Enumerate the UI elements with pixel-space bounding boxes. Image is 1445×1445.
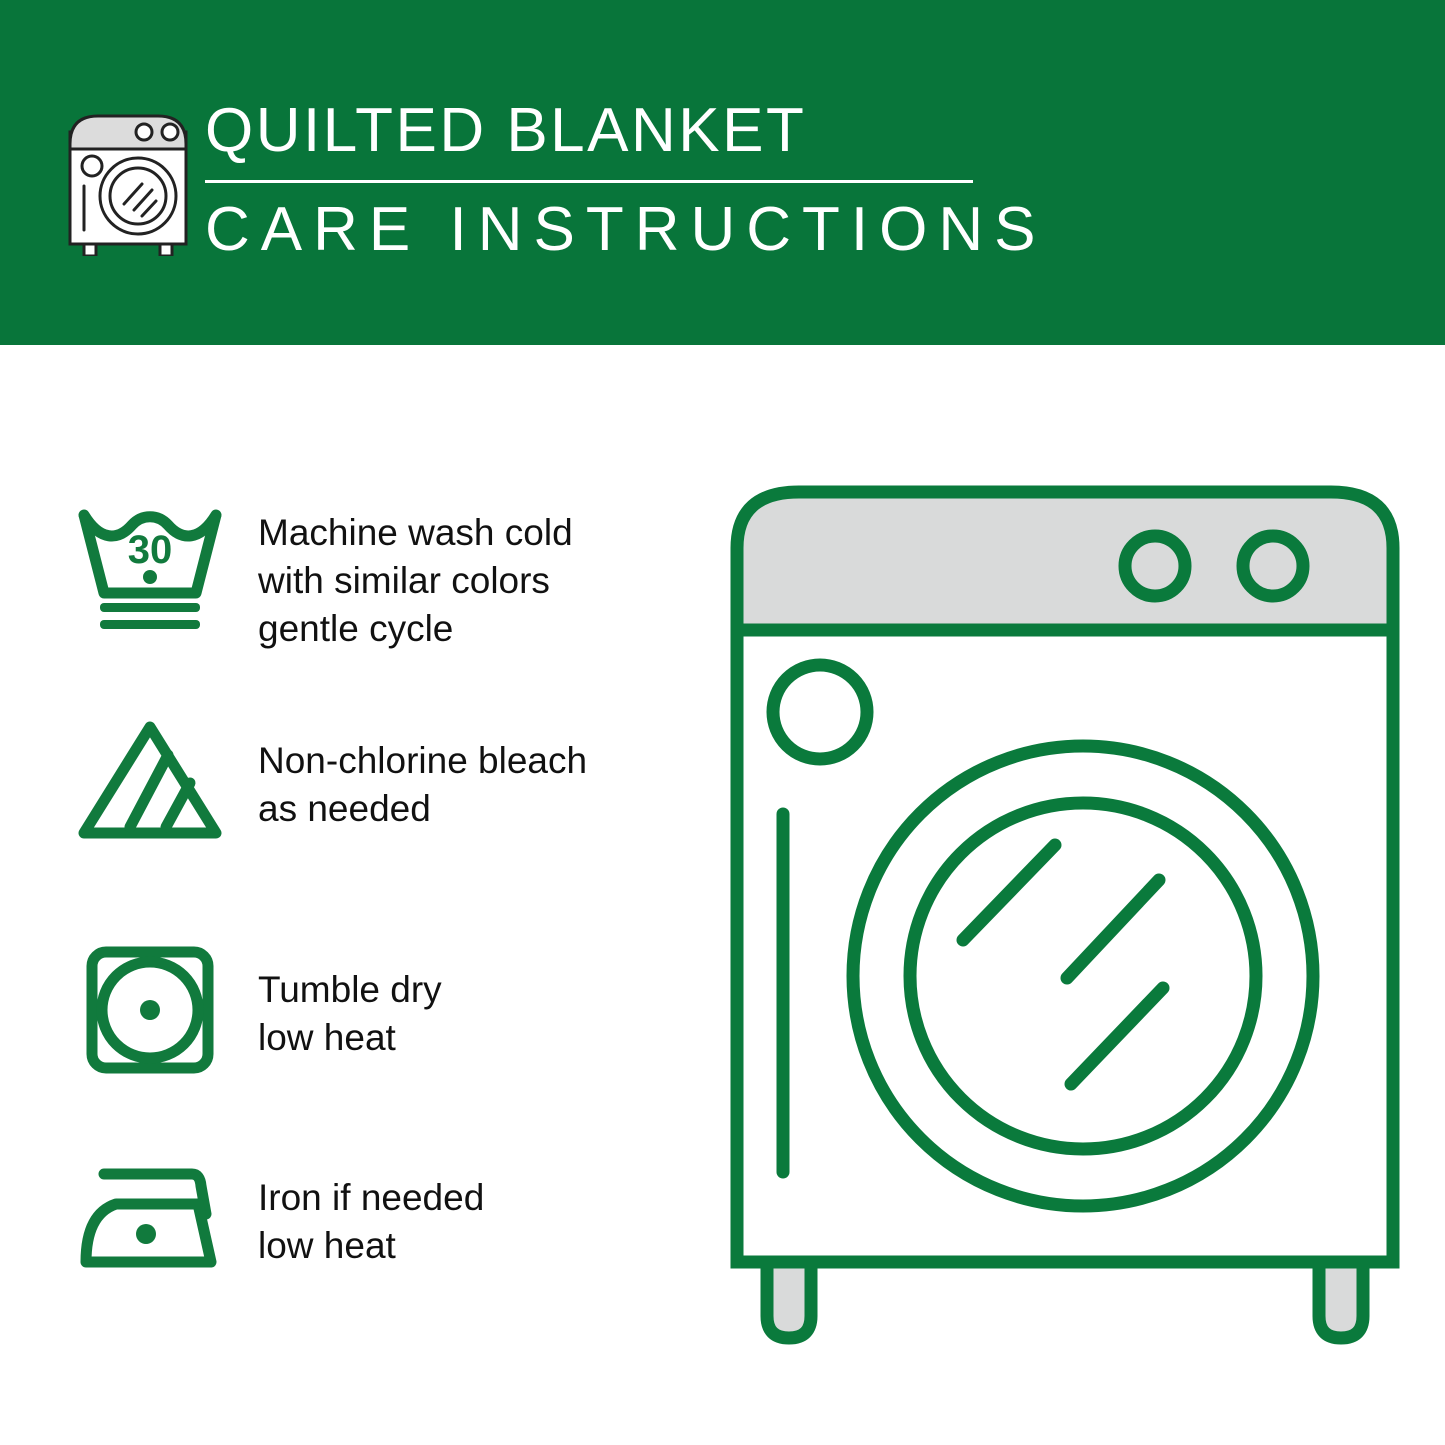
tumble-dry-low-heat-icon — [60, 940, 240, 1080]
care-instructions-page: QUILTED BLANKET CARE INSTRUCTIONS 30 Mac… — [0, 0, 1445, 1445]
page-subtitle: CARE INSTRUCTIONS — [205, 199, 995, 261]
washing-machine-icon — [62, 104, 194, 256]
page-title: QUILTED BLANKET — [205, 100, 995, 162]
header-banner: QUILTED BLANKET CARE INSTRUCTIONS — [0, 0, 1445, 345]
care-row-tumble-dry: Tumble dry low heat — [60, 940, 700, 1080]
care-row-machine-wash: 30 Machine wash cold with similar colors… — [60, 497, 700, 653]
care-text-bleach: Non-chlorine bleach as needed — [240, 715, 700, 833]
wash-tub-30-gentle-icon: 30 — [60, 497, 240, 637]
svg-text:30: 30 — [128, 528, 173, 572]
care-text-tumble-dry: Tumble dry low heat — [240, 940, 700, 1062]
iron-low-heat-icon — [60, 1152, 240, 1282]
title-divider — [205, 180, 973, 183]
front-load-washing-machine-illustration — [715, 470, 1415, 1360]
header-title-block: QUILTED BLANKET CARE INSTRUCTIONS — [205, 100, 995, 261]
care-row-bleach: Non-chlorine bleach as needed — [60, 715, 700, 845]
non-chlorine-bleach-triangle-icon — [60, 715, 240, 845]
care-text-iron: Iron if needed low heat — [240, 1152, 700, 1270]
care-text-machine-wash: Machine wash cold with similar colors ge… — [240, 497, 700, 653]
care-row-iron: Iron if needed low heat — [60, 1152, 700, 1282]
